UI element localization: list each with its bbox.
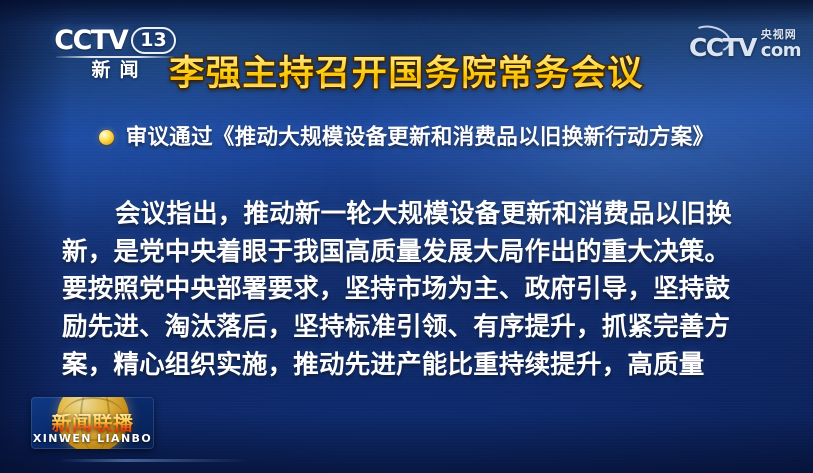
subtitle-row: 审议通过《推动大规模设备更新和消费品以旧换新行动方案》 xyxy=(0,125,813,151)
body-line: 要按照党中央部署要求，坚持市场为主、政府引导，坚持鼓 xyxy=(62,271,761,309)
program-name-en: XINWEN LIANBO xyxy=(31,433,154,444)
bottom-accent-stripe xyxy=(60,459,248,462)
body-paragraph: 会议指出，推动新一轮大规模设备更新和消费品以旧换 新，是党中央着眼于我国高质量发… xyxy=(62,196,761,385)
cctv-wordmark: CCTV xyxy=(54,27,127,54)
body-line: 新，是党中央着眼于我国高质量发展大局作出的重大决策。 xyxy=(62,234,761,272)
body-line: 励先进、淘汰落后，坚持标准引领、有序提升，抓紧完善方 xyxy=(62,309,761,347)
body-line: 会议指出，推动新一轮大规模设备更新和消费品以旧换 xyxy=(62,196,761,234)
channel-number-badge: 13 xyxy=(131,27,175,54)
bullet-point-icon xyxy=(99,130,114,145)
xinwen-lianbo-program-badge: 新闻联播 XINWEN LIANBO xyxy=(31,397,154,449)
broadcast-frame: CCTV 13 新闻 CCTV 央视网 com 李强主持召开国务院常务会议 李强… xyxy=(0,0,813,473)
program-name-cn: 新闻联播 xyxy=(31,414,154,434)
page-title: 李强主持召开国务院常务会议 xyxy=(0,53,813,96)
body-line: 案，精心组织实施，推动先进产能比重持续提升，高质量 xyxy=(62,347,761,385)
top-vignette xyxy=(0,0,813,26)
cctv13-logo-row: CCTV 13 xyxy=(54,27,175,54)
subtitle-text: 审议通过《推动大规模设备更新和消费品以旧换新行动方案》 xyxy=(126,125,715,151)
